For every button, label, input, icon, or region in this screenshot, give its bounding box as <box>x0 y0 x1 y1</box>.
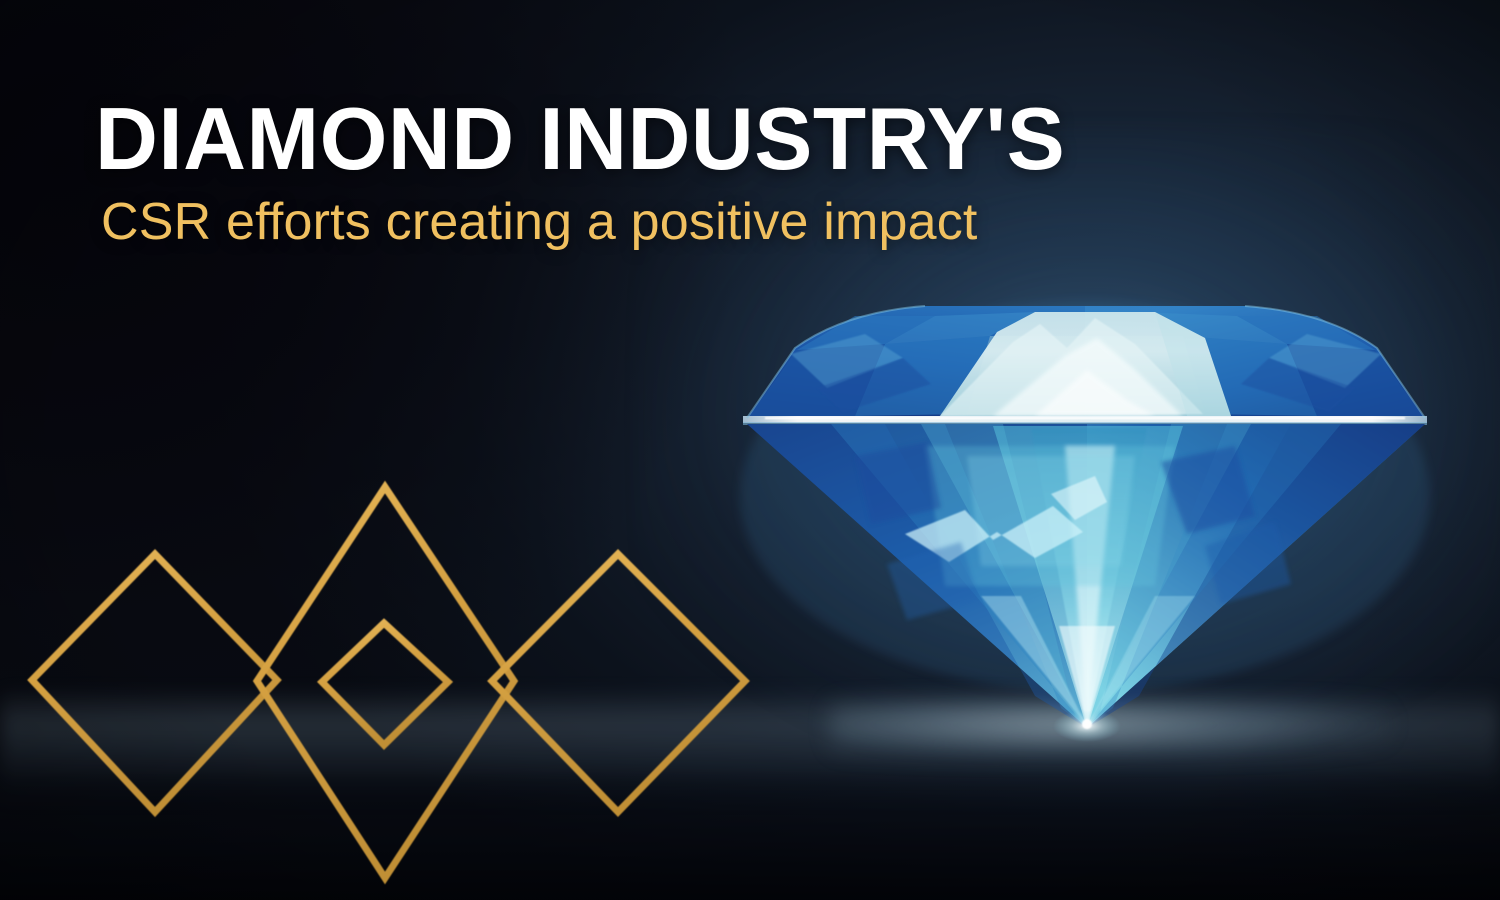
gem-girdle <box>743 416 1427 425</box>
gold-rhombus-small <box>322 623 448 745</box>
banner-root: DIAMOND INDUSTRY'S CSR efforts creating … <box>0 0 1500 900</box>
gem-crown <box>747 306 1425 418</box>
page-title: DIAMOND INDUSTRY'S <box>95 96 1194 181</box>
gold-rhombus-center <box>257 487 514 878</box>
gold-rhombus-right <box>492 554 745 812</box>
blue-diamond-gem <box>735 296 1435 756</box>
headline-block: DIAMOND INDUSTRY'S CSR efforts creating … <box>95 96 1205 249</box>
gold-rhombus-group <box>0 440 800 900</box>
page-subtitle: CSR efforts creating a positive impact <box>101 195 1205 249</box>
gold-rhombus-left <box>32 554 277 812</box>
